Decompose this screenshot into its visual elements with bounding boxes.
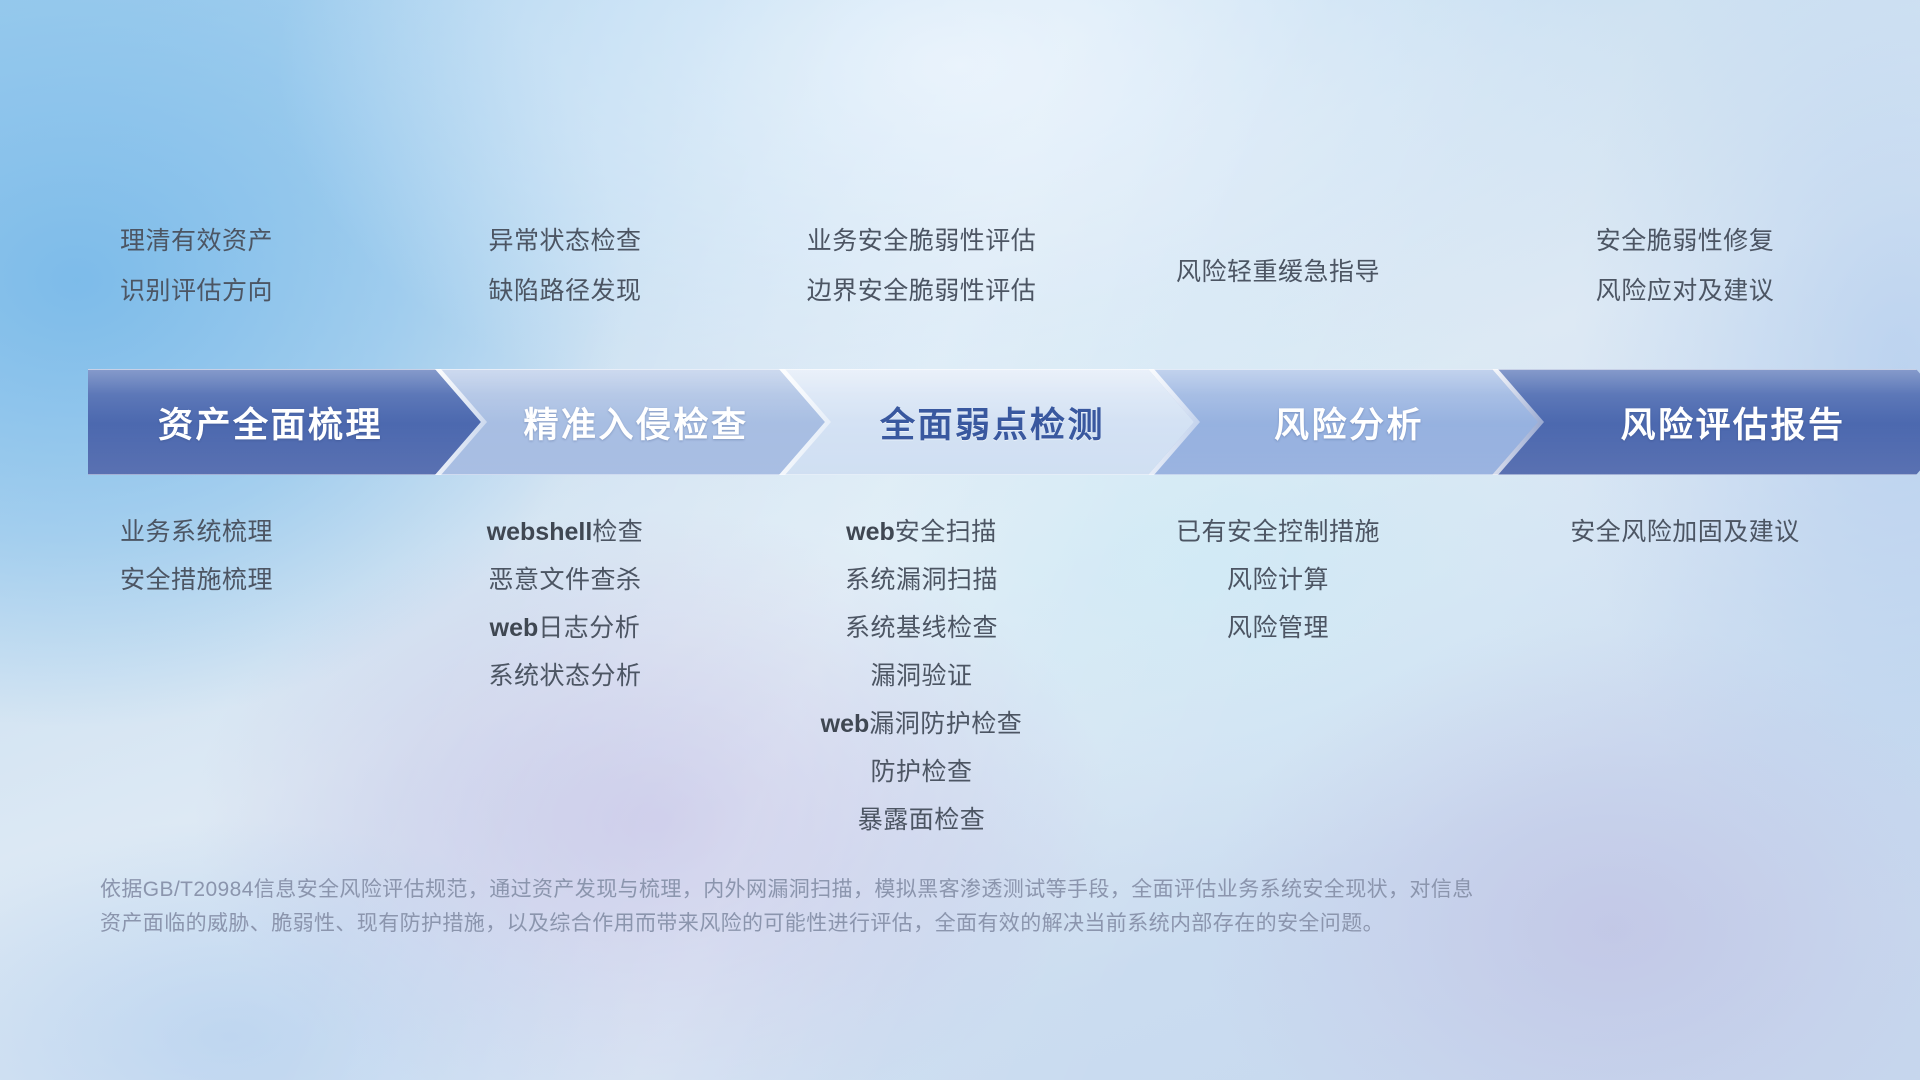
stage-chevron-risk-analysis[interactable]: 风险分析 xyxy=(1148,369,1538,475)
bottom-note-rest: 日志分析 xyxy=(538,614,640,642)
bottom-notes-column-4: 已有安全控制措施 风险计算 风险管理 xyxy=(1106,508,1450,652)
bottom-note-rest: 已有安全控制措施 xyxy=(1176,518,1380,546)
bottom-note: web漏洞防护检查 xyxy=(821,700,1023,748)
bottom-note: 系统漏洞扫描 xyxy=(845,556,998,604)
footer-line: 依据GB/T20984信息安全风险评估规范，通过资产发现与梳理，内外网漏洞扫描，… xyxy=(100,873,1660,907)
top-note: 业务安全脆弱性评估 xyxy=(807,228,1037,256)
top-note: 缺陷路径发现 xyxy=(488,278,641,306)
bottom-note: 业务系统梳理 xyxy=(120,508,273,556)
bottom-note-rest: 漏洞验证 xyxy=(870,662,972,690)
stage-label: 资产全面梳理 xyxy=(158,397,383,448)
top-note: 边界安全脆弱性评估 xyxy=(807,278,1037,306)
bottom-note: 安全风险加固及建议 xyxy=(1570,508,1800,556)
bottom-notes-column-2: webshell检查 恶意文件查杀 web日志分析 系统状态分析 xyxy=(393,508,737,700)
bottom-note: 暴露面检查 xyxy=(858,796,986,844)
top-notes-row: 理清有效资产 识别评估方向 异常状态检查 缺陷路径发现 业务安全脆弱性评估 边界… xyxy=(0,228,1920,305)
bottom-notes-column-3: web安全扫描 系统漏洞扫描 系统基线检查 漏洞验证 web漏洞防护检查 防护检… xyxy=(737,508,1106,844)
stage-chevron-risk-report[interactable]: 风险评估报告 xyxy=(1492,369,1920,475)
bottom-note-rest: 业务系统梳理 xyxy=(120,518,273,546)
stage-label: 风险分析 xyxy=(1274,397,1424,448)
bottom-note: 防护检查 xyxy=(870,748,972,796)
bottom-note-rest: 安全措施梳理 xyxy=(120,566,273,594)
bottom-note: webshell检查 xyxy=(487,508,644,556)
bottom-notes-row: 业务系统梳理 安全措施梳理 webshell检查 恶意文件查杀 web日志分析 xyxy=(0,508,1920,844)
bottom-note-rest: 检查 xyxy=(592,518,643,546)
bottom-note: 恶意文件查杀 xyxy=(488,556,641,604)
bottom-note-rest: 安全风险加固及建议 xyxy=(1570,518,1800,546)
bottom-note: 安全措施梳理 xyxy=(120,556,273,604)
process-diagram: 理清有效资产 识别评估方向 异常状态检查 缺陷路径发现 业务安全脆弱性评估 边界… xyxy=(0,0,1920,1080)
bottom-note-rest: 风险管理 xyxy=(1227,614,1329,642)
bottom-note: 系统基线检查 xyxy=(845,604,998,652)
bottom-note-rest: 漏洞防护检查 xyxy=(869,710,1022,738)
bottom-note-lead: webshell xyxy=(487,518,593,546)
top-notes-column-1: 理清有效资产 识别评估方向 xyxy=(0,228,393,305)
footer-line: 资产面临的威胁、脆弱性、现有防护措施，以及综合作用而带来风险的可能性进行评估，全… xyxy=(100,907,1660,941)
bottom-note: 漏洞验证 xyxy=(870,652,972,700)
bottom-note-rest: 安全扫描 xyxy=(895,518,997,546)
top-notes-column-3: 业务安全脆弱性评估 边界安全脆弱性评估 xyxy=(737,228,1106,305)
stage-chevron-intrusion-check[interactable]: 精准入侵检查 xyxy=(435,369,825,475)
bottom-note-rest: 系统漏洞扫描 xyxy=(845,566,998,594)
stage-label: 全面弱点检测 xyxy=(880,397,1105,448)
stage-label: 精准入侵检查 xyxy=(523,397,748,448)
bottom-note: web安全扫描 xyxy=(846,508,997,556)
bottom-note: 系统状态分析 xyxy=(488,652,641,700)
chevron-band: 资产全面梳理 精准入侵检查 全面弱点检测 风险分析 风险评估报告 xyxy=(88,369,1920,475)
bottom-note-lead: web xyxy=(821,710,870,738)
footer-description: 依据GB/T20984信息安全风险评估规范，通过资产发现与梳理，内外网漏洞扫描，… xyxy=(100,873,1660,941)
bottom-note: 风险管理 xyxy=(1227,604,1329,652)
bottom-note-lead: web xyxy=(846,518,895,546)
bottom-note-rest: 防护检查 xyxy=(870,758,972,786)
top-note: 安全脆弱性修复 xyxy=(1596,228,1775,256)
top-notes-column-5: 安全脆弱性修复 风险应对及建议 xyxy=(1450,228,1920,305)
top-note: 风险应对及建议 xyxy=(1596,278,1775,306)
bottom-note: web日志分析 xyxy=(490,604,641,652)
top-note: 理清有效资产 xyxy=(120,228,273,256)
bottom-note-lead: web xyxy=(490,614,539,642)
bottom-note-rest: 暴露面检查 xyxy=(858,806,986,834)
stage-chevron-weakness-detection[interactable]: 全面弱点检测 xyxy=(779,369,1194,475)
bottom-note-rest: 恶意文件查杀 xyxy=(488,566,641,594)
top-note: 异常状态检查 xyxy=(488,228,641,256)
stage-label: 风险评估报告 xyxy=(1620,397,1845,448)
bottom-note-rest: 风险计算 xyxy=(1227,566,1329,594)
bottom-note-rest: 系统状态分析 xyxy=(488,662,641,690)
bottom-note: 风险计算 xyxy=(1227,556,1329,604)
bottom-notes-column-5: 安全风险加固及建议 xyxy=(1450,508,1920,556)
top-note: 识别评估方向 xyxy=(120,278,273,306)
bottom-notes-column-1: 业务系统梳理 安全措施梳理 xyxy=(0,508,393,604)
bottom-note-rest: 系统基线检查 xyxy=(845,614,998,642)
top-notes-column-2: 异常状态检查 缺陷路径发现 xyxy=(393,228,737,305)
top-notes-column-4: 风险轻重缓急指导 xyxy=(1106,228,1450,305)
bottom-note: 已有安全控制措施 xyxy=(1176,508,1380,556)
top-note: 风险轻重缓急指导 xyxy=(1176,259,1380,287)
stage-chevron-asset-inventory[interactable]: 资产全面梳理 xyxy=(88,369,481,475)
